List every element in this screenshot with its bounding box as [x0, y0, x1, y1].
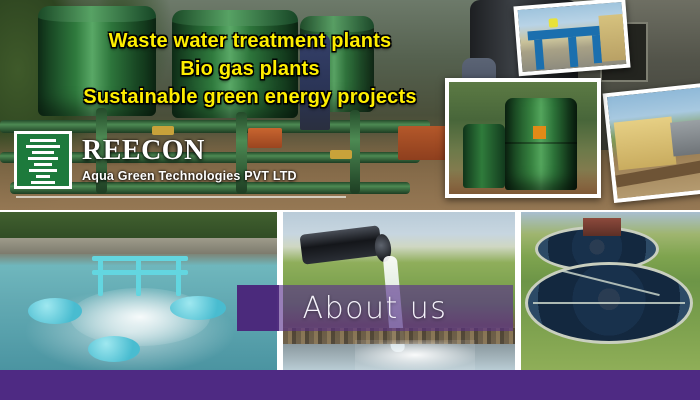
brand-name: REECON: [82, 137, 297, 165]
gallery-divider-2: [515, 212, 521, 370]
brand-logo-lockup[interactable]: REECON Aqua Green Technologies PVT LTD: [14, 131, 297, 189]
page-root: Waste water treatment plants Bio gas pla…: [0, 0, 700, 400]
hero-banner: Waste water treatment plants Bio gas pla…: [0, 0, 700, 210]
footer-bar: [0, 370, 700, 400]
headline-line-2: Bio gas plants: [0, 55, 500, 83]
collage-photo-pump-house: [603, 79, 700, 203]
valve-handle-2: [330, 150, 352, 159]
collage-photo-stp: [513, 0, 630, 76]
headline-line-1: Waste water treatment plants: [0, 27, 500, 55]
surface-aerator-frame: [92, 256, 188, 300]
reecon-logo-icon: [14, 131, 72, 189]
brand-tagline: Aqua Green Technologies PVT LTD: [82, 170, 297, 183]
gallery-photo-clarifiers: [521, 212, 700, 370]
hero-headline: Waste water treatment plants Bio gas pla…: [0, 27, 500, 111]
brand-underline-divider: [16, 196, 346, 198]
about-us-title: About us: [237, 285, 513, 331]
headline-line-3: Sustainable green energy projects: [0, 83, 500, 111]
gallery-photo-aeration-basin: [0, 212, 277, 370]
